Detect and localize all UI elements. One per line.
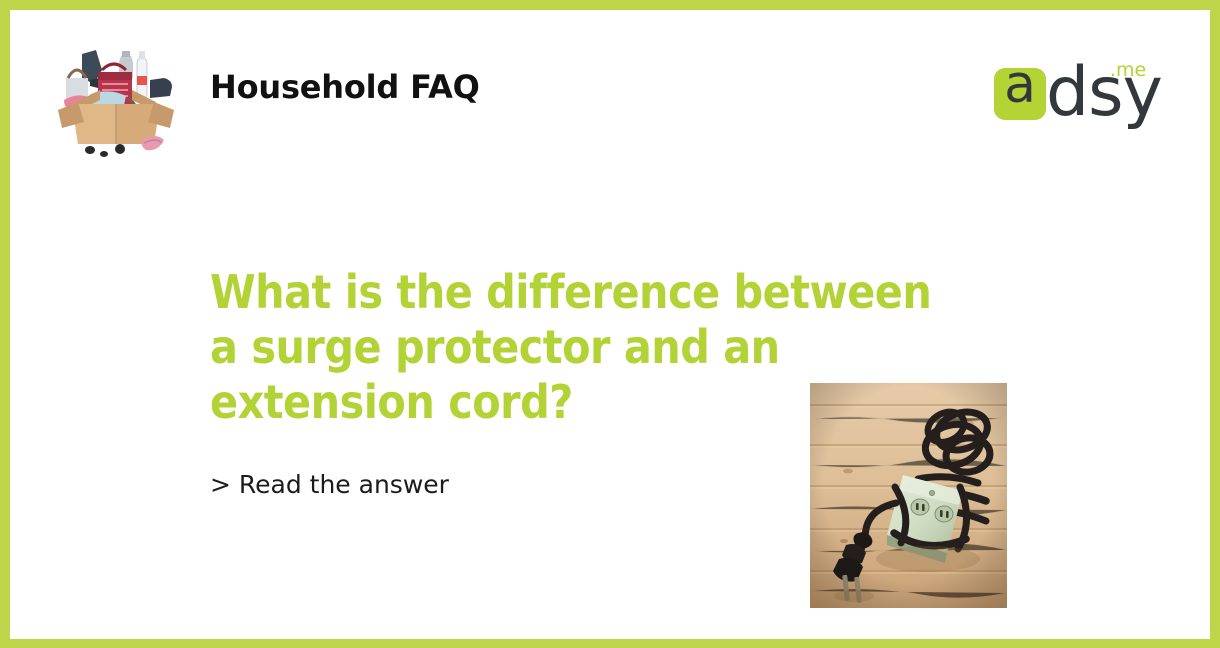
- adsy-logo[interactable]: a dsy .me: [994, 58, 1154, 128]
- logo-letter-a: a: [994, 59, 1046, 111]
- header: Household FAQ a dsy .me: [10, 10, 1210, 160]
- card-inner: Household FAQ a dsy .me What is the diff…: [10, 10, 1210, 639]
- household-box-icon: [46, 36, 186, 158]
- logo-tld: .me: [1110, 59, 1146, 81]
- photo-inner: [810, 383, 1007, 608]
- headline-line-2: a surge protector and an: [210, 320, 1110, 375]
- extension-cord-photo: [810, 383, 1007, 608]
- read-the-answer-link[interactable]: > Read the answer: [210, 470, 449, 499]
- page-title: Household FAQ: [210, 68, 480, 106]
- faq-promo-card: Household FAQ a dsy .me What is the diff…: [0, 0, 1220, 648]
- headline-line-1: What is the difference between: [210, 265, 1110, 320]
